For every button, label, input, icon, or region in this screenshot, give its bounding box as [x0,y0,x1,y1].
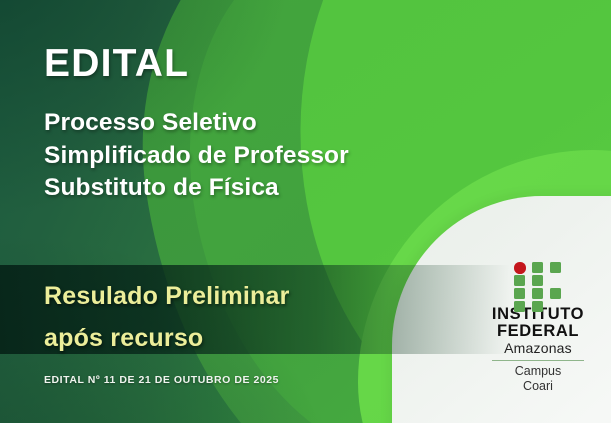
logo-square-icon [514,301,525,312]
subtitle-line-2: Simplificado de Professor [44,140,349,173]
logo-square-icon [514,275,525,286]
subtitle-line-3: Substituto de Física [44,172,349,205]
page-title: EDITAL [44,44,189,83]
poster-subtitle: Processo Seletivo Simplificado de Profes… [44,107,349,205]
logo-square-icon [514,288,525,299]
logo-divider [492,360,584,361]
logo-line-federal: FEDERAL [492,323,584,340]
logo-dot-icon [514,262,526,274]
subtitle-line-1: Processo Seletivo [44,107,349,140]
if-logo-mark-icon [514,262,562,299]
logo-square-icon [532,288,543,299]
highlight-line-1: Resulado Preliminar [44,275,290,317]
logo-square-icon [532,275,543,286]
edital-poster: EDITAL Processo Seletivo Simplificado de… [0,0,611,423]
edital-reference: EDITAL Nº 11 DE 21 DE OUTUBRO DE 2025 [44,374,279,386]
logo-square-icon [532,301,543,312]
highlight-line-2: após recurso [44,317,290,359]
poster-highlight: Resulado Preliminar após recurso [44,275,290,359]
logo-campus-label: Campus [515,364,562,379]
institution-logo: INSTITUTO FEDERAL Amazonas Campus Coari [478,262,598,394]
logo-campus: Campus Coari [515,364,562,394]
logo-wordmark: INSTITUTO FEDERAL Amazonas [492,306,584,356]
logo-campus-name: Coari [515,379,562,394]
logo-square-icon [532,262,543,273]
logo-square-icon [550,288,561,299]
logo-line-amazonas: Amazonas [492,341,584,356]
logo-square-icon [550,262,561,273]
